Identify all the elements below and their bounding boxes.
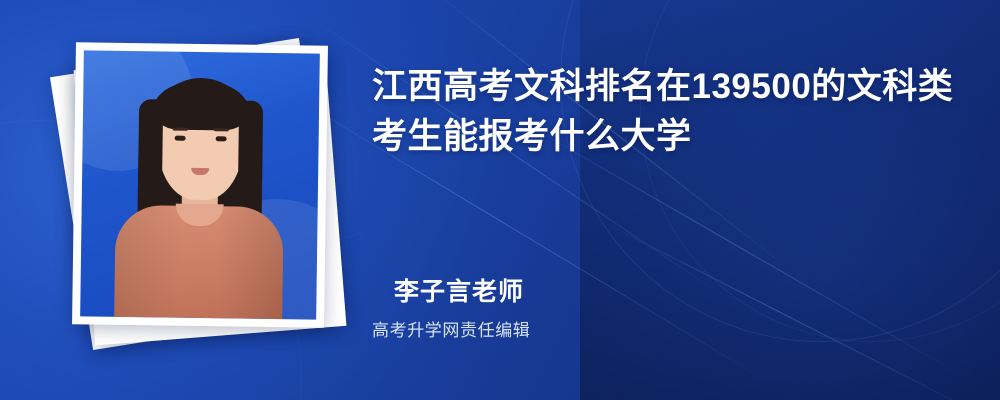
portrait-brow-right xyxy=(214,128,229,131)
photo-stack xyxy=(46,38,376,368)
author-portrait xyxy=(80,50,320,319)
headline-block: 江西高考文科排名在139500的文科类考生能报考什么大学 xyxy=(372,62,962,161)
portrait-eye-left xyxy=(175,136,186,141)
author-name: 李子言老师 xyxy=(394,272,524,308)
portrait-eye-right xyxy=(216,136,227,141)
portrait-shading xyxy=(114,205,284,319)
article-banner: 江西高考文科排名在139500的文科类考生能报考什么大学 李子言老师 高考升学网… xyxy=(0,0,1000,400)
page-title: 江西高考文科排名在139500的文科类考生能报考什么大学 xyxy=(372,62,962,161)
portrait-brow-left xyxy=(173,128,188,131)
author-title: 高考升学网责任编辑 xyxy=(372,316,530,341)
photo-card-front xyxy=(72,42,328,327)
portrait-fringe xyxy=(153,81,250,130)
